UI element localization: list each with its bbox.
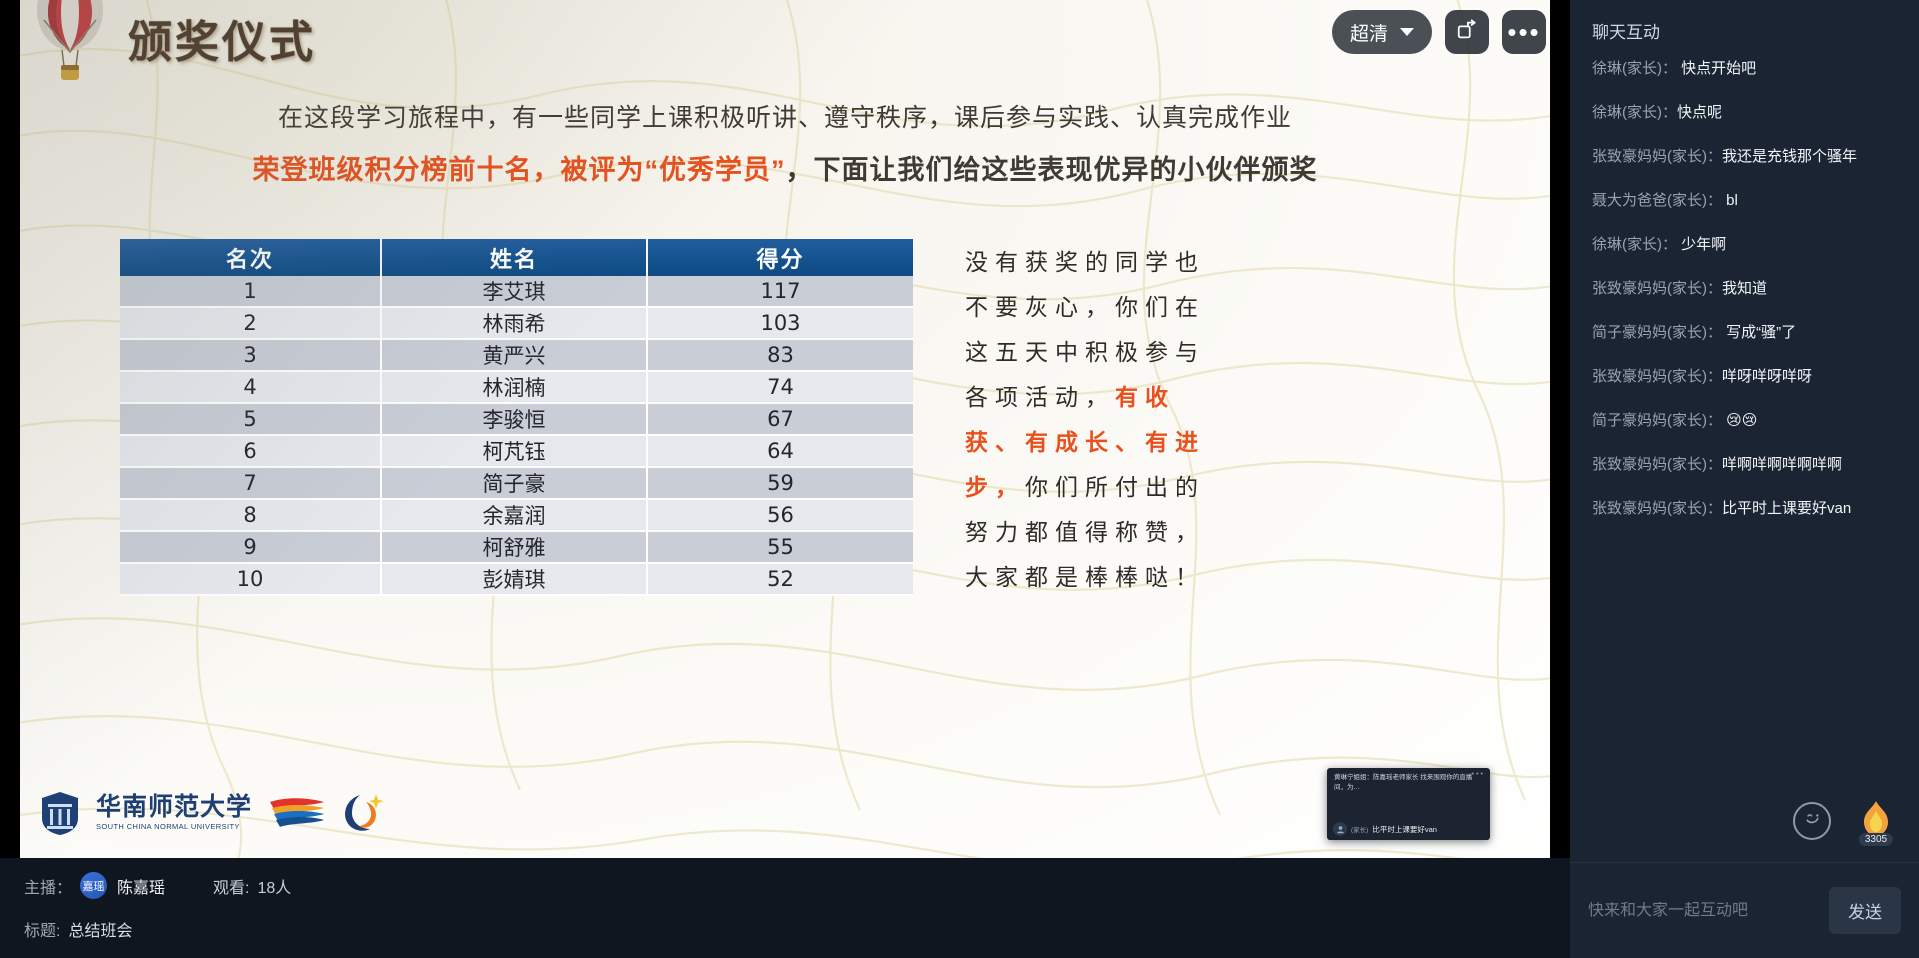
chat-message-body: 咩呀咩呀咩呀 [1722,368,1812,385]
cell-score: 52 [648,564,913,596]
chat-message: 张致豪妈妈(家长)：咩呀咩呀咩呀 [1592,365,1899,389]
cell-name: 余嘉润 [382,500,648,532]
pip-message-text: 比平时上课要好van [1372,824,1437,835]
slide-lead-rest: ，下面让我们给这些表现优异的小伙伴颁奖 [786,155,1318,185]
chat-message-author: 张致豪妈妈(家长)： [1592,280,1722,297]
chat-message-author: 聂大为爸爸(家长)： [1592,192,1722,209]
table-row: 2林雨希103 [120,308,913,340]
cell-name: 黄严兴 [382,340,648,372]
picture-in-picture-preview[interactable]: ••• 黄琳宁姐姐：陈嘉瑶老师家长 找来围观你的直播间，为… (家长) 比平时上… [1327,768,1490,840]
table-row: 1李艾琪117 [120,276,913,308]
slide-lead-highlight: 荣登班级积分榜前十名，被评为“优秀学员” [253,155,786,185]
chat-message-author: 简子豪妈妈(家长)： [1592,412,1722,429]
chat-message-author: 简子豪妈妈(家长)： [1592,324,1722,341]
chat-panel: 聊天互动 徐琳(家长)： 快点开始吧徐琳(家长)：快点呢张致豪妈妈(家长)：我还… [1570,0,1919,958]
table-row: 6柯芃钰64 [120,436,913,468]
chat-message-body: 我知道 [1722,280,1767,297]
cell-rank: 7 [120,468,382,500]
quality-selector[interactable]: 超清 [1332,10,1432,54]
chat-message: 张致豪妈妈(家长)：比平时上课要好van [1592,497,1899,521]
university-name-cn: 华南师范大学 [96,795,252,820]
hot-air-balloon-icon [24,0,116,86]
gift-button[interactable]: 3305 [1853,798,1899,844]
cell-rank: 1 [120,276,382,308]
chat-message: 简子豪妈妈(家长)： 写成“骚”了 [1592,321,1899,345]
chat-message: 张致豪妈妈(家长)：咩啊咩啊咩啊咩啊 [1592,453,1899,477]
table-row: 8余嘉润56 [120,500,913,532]
cell-score: 83 [648,340,913,372]
column-header-name: 姓名 [382,239,648,276]
chat-message: 张致豪妈妈(家长)：我还是充钱那个骚年 [1592,145,1899,169]
cell-rank: 10 [120,564,382,596]
pip-user-tag: (家长) [1351,824,1368,834]
ribbon-logo-icon [266,796,326,830]
watch-label: 观看: [213,874,249,898]
cell-score: 56 [648,500,913,532]
slide-logos: 华南师范大学 SOUTH CHINA NORMAL UNIVERSITY [38,790,384,836]
table-row: 3黄严兴83 [120,340,913,372]
cell-score: 103 [648,308,913,340]
cell-score: 74 [648,372,913,404]
slide-lead-line-2: 荣登班级积分榜前十名，被评为“优秀学员”，下面让我们给这些表现优异的小伙伴颁奖 [20,148,1550,187]
chat-message-body: 写成“骚”了 [1722,324,1796,341]
chat-message-list[interactable]: 徐琳(家长)： 快点开始吧徐琳(家长)：快点呢张致豪妈妈(家长)：我还是充钱那个… [1570,53,1919,780]
emoji-face-icon [1802,808,1823,834]
chat-message-body: 我还是充钱那个骚年 [1722,148,1857,165]
cell-name: 李骏恒 [382,404,648,436]
screen-rotate-button[interactable] [1445,10,1489,54]
chat-message: 徐琳(家长)： 快点开始吧 [1592,57,1899,81]
cell-name: 简子豪 [382,468,648,500]
chat-message-author: 徐琳(家长)： [1592,104,1677,121]
host-label: 主播： [24,874,72,898]
chat-input-row[interactable]: 发送 [1570,862,1919,958]
chat-message-body: 😢😢 [1722,412,1757,429]
chat-message-body: 少年啊 [1677,236,1726,253]
star-logo-icon [340,792,384,834]
chat-message: 张致豪妈妈(家长)：我知道 [1592,277,1899,301]
chat-message-author: 张致豪妈妈(家长)： [1592,148,1722,165]
university-wordmark: 华南师范大学 SOUTH CHINA NORMAL UNIVERSITY [96,795,252,831]
table-row: 5李骏恒67 [120,404,913,436]
cell-rank: 4 [120,372,382,404]
send-button[interactable]: 发送 [1829,887,1901,934]
university-name-en: SOUTH CHINA NORMAL UNIVERSITY [96,823,252,831]
cell-rank: 6 [120,436,382,468]
host-row: 主播： 嘉瑶 陈嘉瑶 观看: 18人 [24,872,1546,899]
emoji-button[interactable] [1793,802,1831,840]
chat-message: 简子豪妈妈(家长)： 😢😢 [1592,409,1899,433]
chat-input[interactable] [1588,902,1815,920]
pip-message-row: (家长) 比平时上课要好van [1333,822,1437,836]
cell-score: 117 [648,276,913,308]
quality-label: 超清 [1350,19,1388,46]
video-player-area[interactable]: 颁奖仪式 在这段学习旅程中，有一些同学上课积极听讲、遵守秩序，课后参与实践、认真… [0,0,1570,958]
column-header-score: 得分 [648,239,913,276]
stream-info-bar: 主播： 嘉瑶 陈嘉瑶 观看: 18人 标题: 总结班会 [0,858,1570,958]
cell-name: 林润楠 [382,372,648,404]
chat-message-author: 张致豪妈妈(家长)： [1592,500,1722,517]
university-shield-icon [38,790,82,836]
table-row: 10彭婧琪52 [120,564,913,596]
cell-rank: 2 [120,308,382,340]
cell-rank: 5 [120,404,382,436]
slide-title: 颁奖仪式 [128,6,316,70]
more-options-button[interactable]: ••• [1502,10,1546,54]
chat-message: 徐琳(家长)：快点呢 [1592,101,1899,125]
cell-name: 林雨希 [382,308,648,340]
cell-rank: 9 [120,532,382,564]
more-dots-icon: ••• [1507,19,1540,45]
watch-count: 18人 [257,874,291,898]
chat-message-author: 徐琳(家长)： [1592,236,1677,253]
chat-message-body: bl [1722,192,1738,209]
screen-rotate-icon [1456,19,1478,46]
live-stream-page: 颁奖仪式 在这段学习旅程中，有一些同学上课积极听讲、遵守秩序，课后参与实践、认真… [0,0,1919,958]
player-controls[interactable]: 超清 ••• [1332,10,1546,54]
table-row: 7简子豪59 [120,468,913,500]
avatar[interactable]: 嘉瑶 [80,872,107,899]
slide-lead-line-1: 在这段学习旅程中，有一些同学上课积极听讲、遵守秩序，课后参与实践、认真完成作业 [20,98,1550,134]
ranking-table: 名次 姓名 得分 1李艾琪1172林雨希1033黄严兴834林润楠745李骏恒6… [120,239,913,596]
stream-title-label: 标题: [24,917,60,941]
chat-message-body: 咩啊咩啊咩啊咩啊 [1722,456,1842,473]
title-row: 标题: 总结班会 [24,917,1546,941]
gift-count-badge: 3305 [1859,833,1893,846]
chat-message-body: 快点开始吧 [1677,60,1756,77]
user-avatar-icon [1333,822,1347,836]
chat-panel-title: 聊天互动 [1570,0,1919,53]
stream-title-value: 总结班会 [68,917,132,941]
chat-message-body: 快点呢 [1677,104,1722,121]
cell-score: 67 [648,404,913,436]
chat-message-author: 张致豪妈妈(家长)： [1592,368,1722,385]
cell-score: 59 [648,468,913,500]
cell-score: 64 [648,436,913,468]
chevron-down-icon [1400,28,1414,36]
cell-name: 彭婧琪 [382,564,648,596]
pip-caption: 黄琳宁姐姐：陈嘉瑶老师家长 找来围观你的直播间，为… [1334,773,1484,793]
cell-rank: 3 [120,340,382,372]
chat-message-body: 比平时上课要好van [1722,500,1851,517]
cell-name: 柯舒雅 [382,532,648,564]
chat-message-author: 徐琳(家长)： [1592,60,1677,77]
table-body: 1李艾琪1172林雨希1033黄严兴834林润楠745李骏恒676柯芃钰647简… [120,276,913,596]
table-header-row: 名次 姓名 得分 [120,239,913,276]
cell-rank: 8 [120,500,382,532]
table-row: 4林润楠74 [120,372,913,404]
cell-name: 柯芃钰 [382,436,648,468]
chat-message-author: 张致豪妈妈(家长)： [1592,456,1722,473]
cell-name: 李艾琪 [382,276,648,308]
chat-tools: 3305 [1570,780,1919,862]
host-name: 陈嘉瑶 [117,874,165,898]
cell-score: 55 [648,532,913,564]
column-header-rank: 名次 [120,239,382,276]
table-row: 9柯舒雅55 [120,532,913,564]
presentation-slide: 颁奖仪式 在这段学习旅程中，有一些同学上课积极听讲、遵守秩序，课后参与实践、认真… [20,0,1550,858]
chat-message: 聂大为爸爸(家长)： bl [1592,189,1899,213]
slide-side-note: 没有获奖的同学也不要灰心，你们在这五天中积极参与各项活动，有收获、有成长、有进步… [965,240,1215,600]
chat-message: 徐琳(家长)： 少年啊 [1592,233,1899,257]
